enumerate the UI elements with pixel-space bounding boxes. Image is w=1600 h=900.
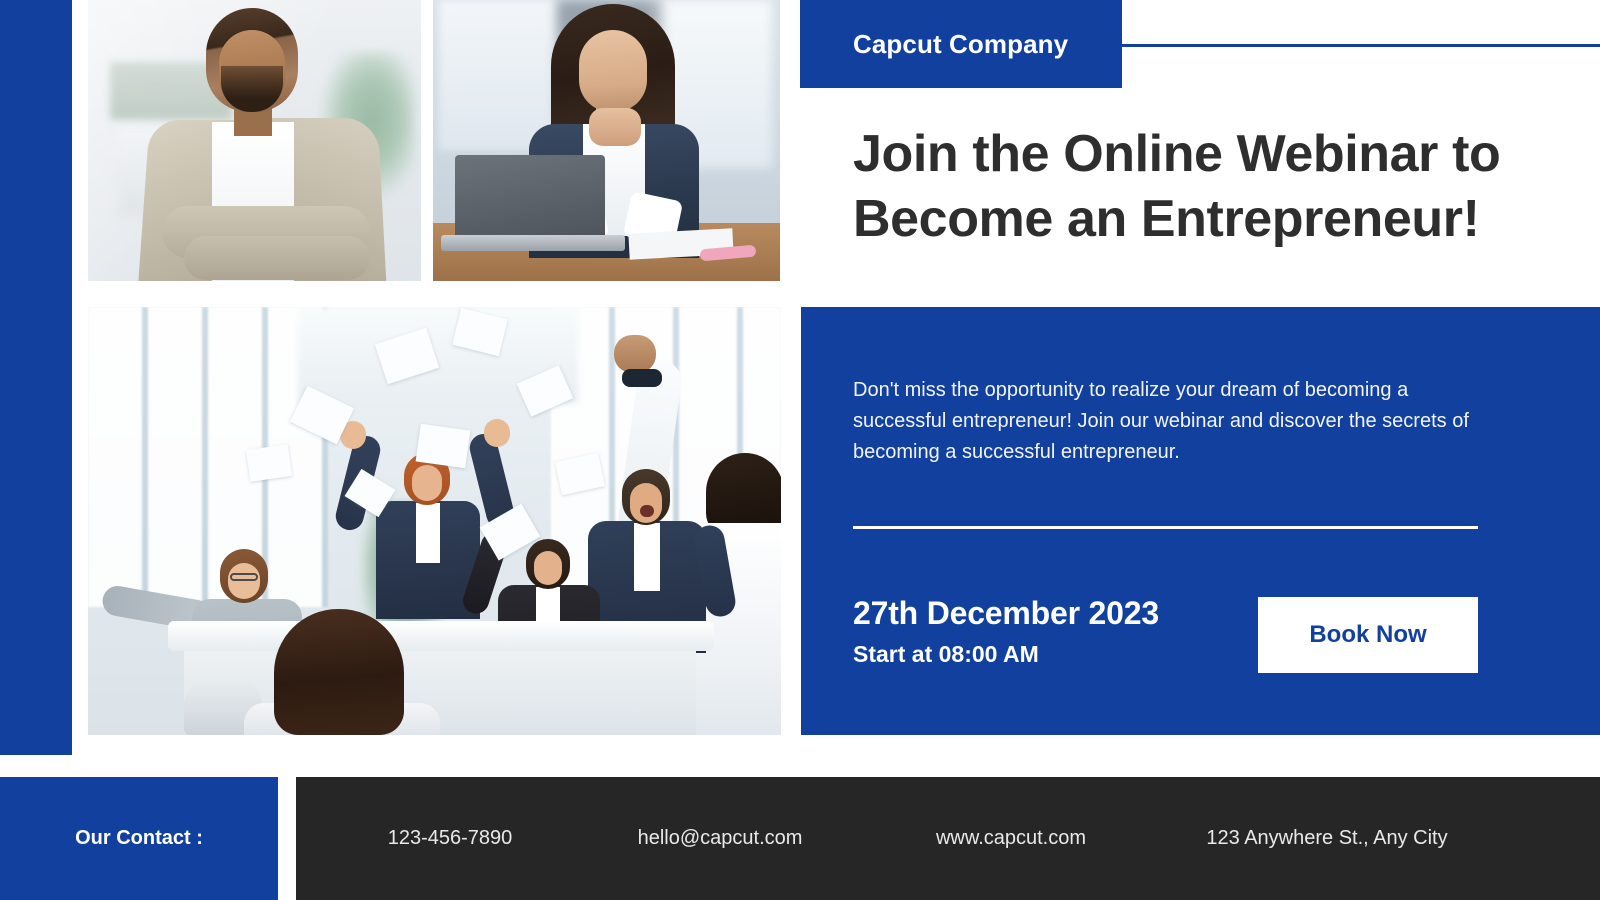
contact-bar: 123-456-7890 hello@capcut.com www.capcut… <box>296 777 1600 900</box>
contact-label: Our Contact : <box>75 827 203 850</box>
book-now-button[interactable]: Book Now <box>1258 597 1478 673</box>
promo-banner: Capcut Company Join the Online Webinar t… <box>0 0 1600 900</box>
company-name: Capcut Company <box>800 29 1068 60</box>
info-panel: Don't miss the opportunity to realize yo… <box>801 307 1600 735</box>
panel-divider <box>853 526 1478 529</box>
contact-phone[interactable]: 123-456-7890 <box>330 827 570 850</box>
page-title: Join the Online Webinar to Become an Ent… <box>853 122 1553 252</box>
company-badge: Capcut Company <box>800 0 1122 88</box>
header-rule <box>1122 44 1600 47</box>
contact-label-box: Our Contact : <box>0 777 278 900</box>
contact-address: 123 Anywhere St., Any City <box>1162 827 1492 850</box>
gallery-photo-businesswoman <box>433 0 780 281</box>
left-accent-bar <box>0 0 72 755</box>
description-text: Don't miss the opportunity to realize yo… <box>853 375 1498 468</box>
gallery-photo-team-celebration <box>88 307 781 735</box>
gallery-photo-businessman <box>88 0 421 281</box>
event-date: 27th December 2023 <box>853 595 1159 632</box>
event-time: Start at 08:00 AM <box>853 641 1039 668</box>
contact-website[interactable]: www.capcut.com <box>876 827 1146 850</box>
contact-email[interactable]: hello@capcut.com <box>580 827 860 850</box>
